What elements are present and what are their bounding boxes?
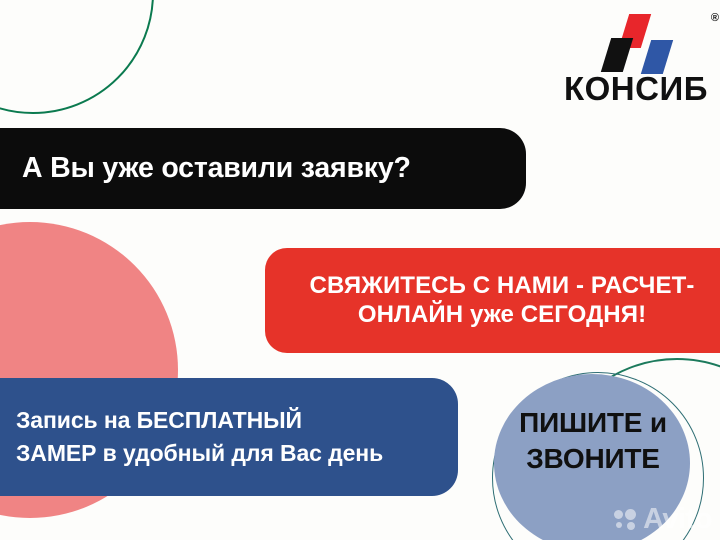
banner-booking: Запись на БЕСПЛАТНЫЙ ЗАМЕР в удобный для… — [0, 378, 458, 496]
cta-circle-line-2: ЗВОНИТЕ — [526, 443, 660, 474]
avito-watermark: Avito — [614, 505, 712, 534]
logo-mark-group — [564, 14, 706, 70]
banner-contact-text: СВЯЖИТЕСЬ С НАМИ - РАСЧЕТ- ОНЛАЙН уже СЕ… — [310, 272, 695, 329]
banner-question: А Вы уже оставили заявку? — [0, 128, 526, 209]
cta-circle-line-1: ПИШИТЕ и — [519, 407, 667, 438]
banner-contact-line-1: СВЯЖИТЕСЬ С НАМИ - РАСЧЕТ- — [310, 272, 695, 299]
banner-booking-text: Запись на БЕСПЛАТНЫЙ ЗАМЕР в удобный для… — [16, 404, 383, 469]
promo-poster: КОНСИБ ® А Вы уже оставили заявку? СВЯЖИ… — [0, 0, 720, 540]
logo-rhombus-blue-icon — [641, 40, 673, 74]
banner-booking-line-1: Запись на БЕСПЛАТНЫЙ — [16, 407, 302, 433]
cta-circle-text: ПИШИТЕ и ЗВОНИТЕ — [492, 405, 694, 477]
logo-wordmark: КОНСИБ — [564, 72, 708, 105]
avito-watermark-label: Avito — [643, 505, 712, 534]
banner-contact-line-2: ОНЛАЙН уже СЕГОДНЯ! — [358, 301, 646, 328]
logo-rhombus-black-icon — [601, 38, 633, 72]
decorative-ring-top-left — [0, 0, 154, 114]
brand-logo: КОНСИБ ® — [564, 14, 706, 105]
banner-booking-line-2: ЗАМЕР в удобный для Вас день — [16, 440, 383, 466]
registered-trademark-icon: ® — [711, 12, 719, 24]
avito-dots-icon — [614, 508, 640, 532]
banner-question-text: А Вы уже оставили заявку? — [22, 152, 411, 186]
banner-contact: СВЯЖИТЕСЬ С НАМИ - РАСЧЕТ- ОНЛАЙН уже СЕ… — [265, 248, 720, 353]
